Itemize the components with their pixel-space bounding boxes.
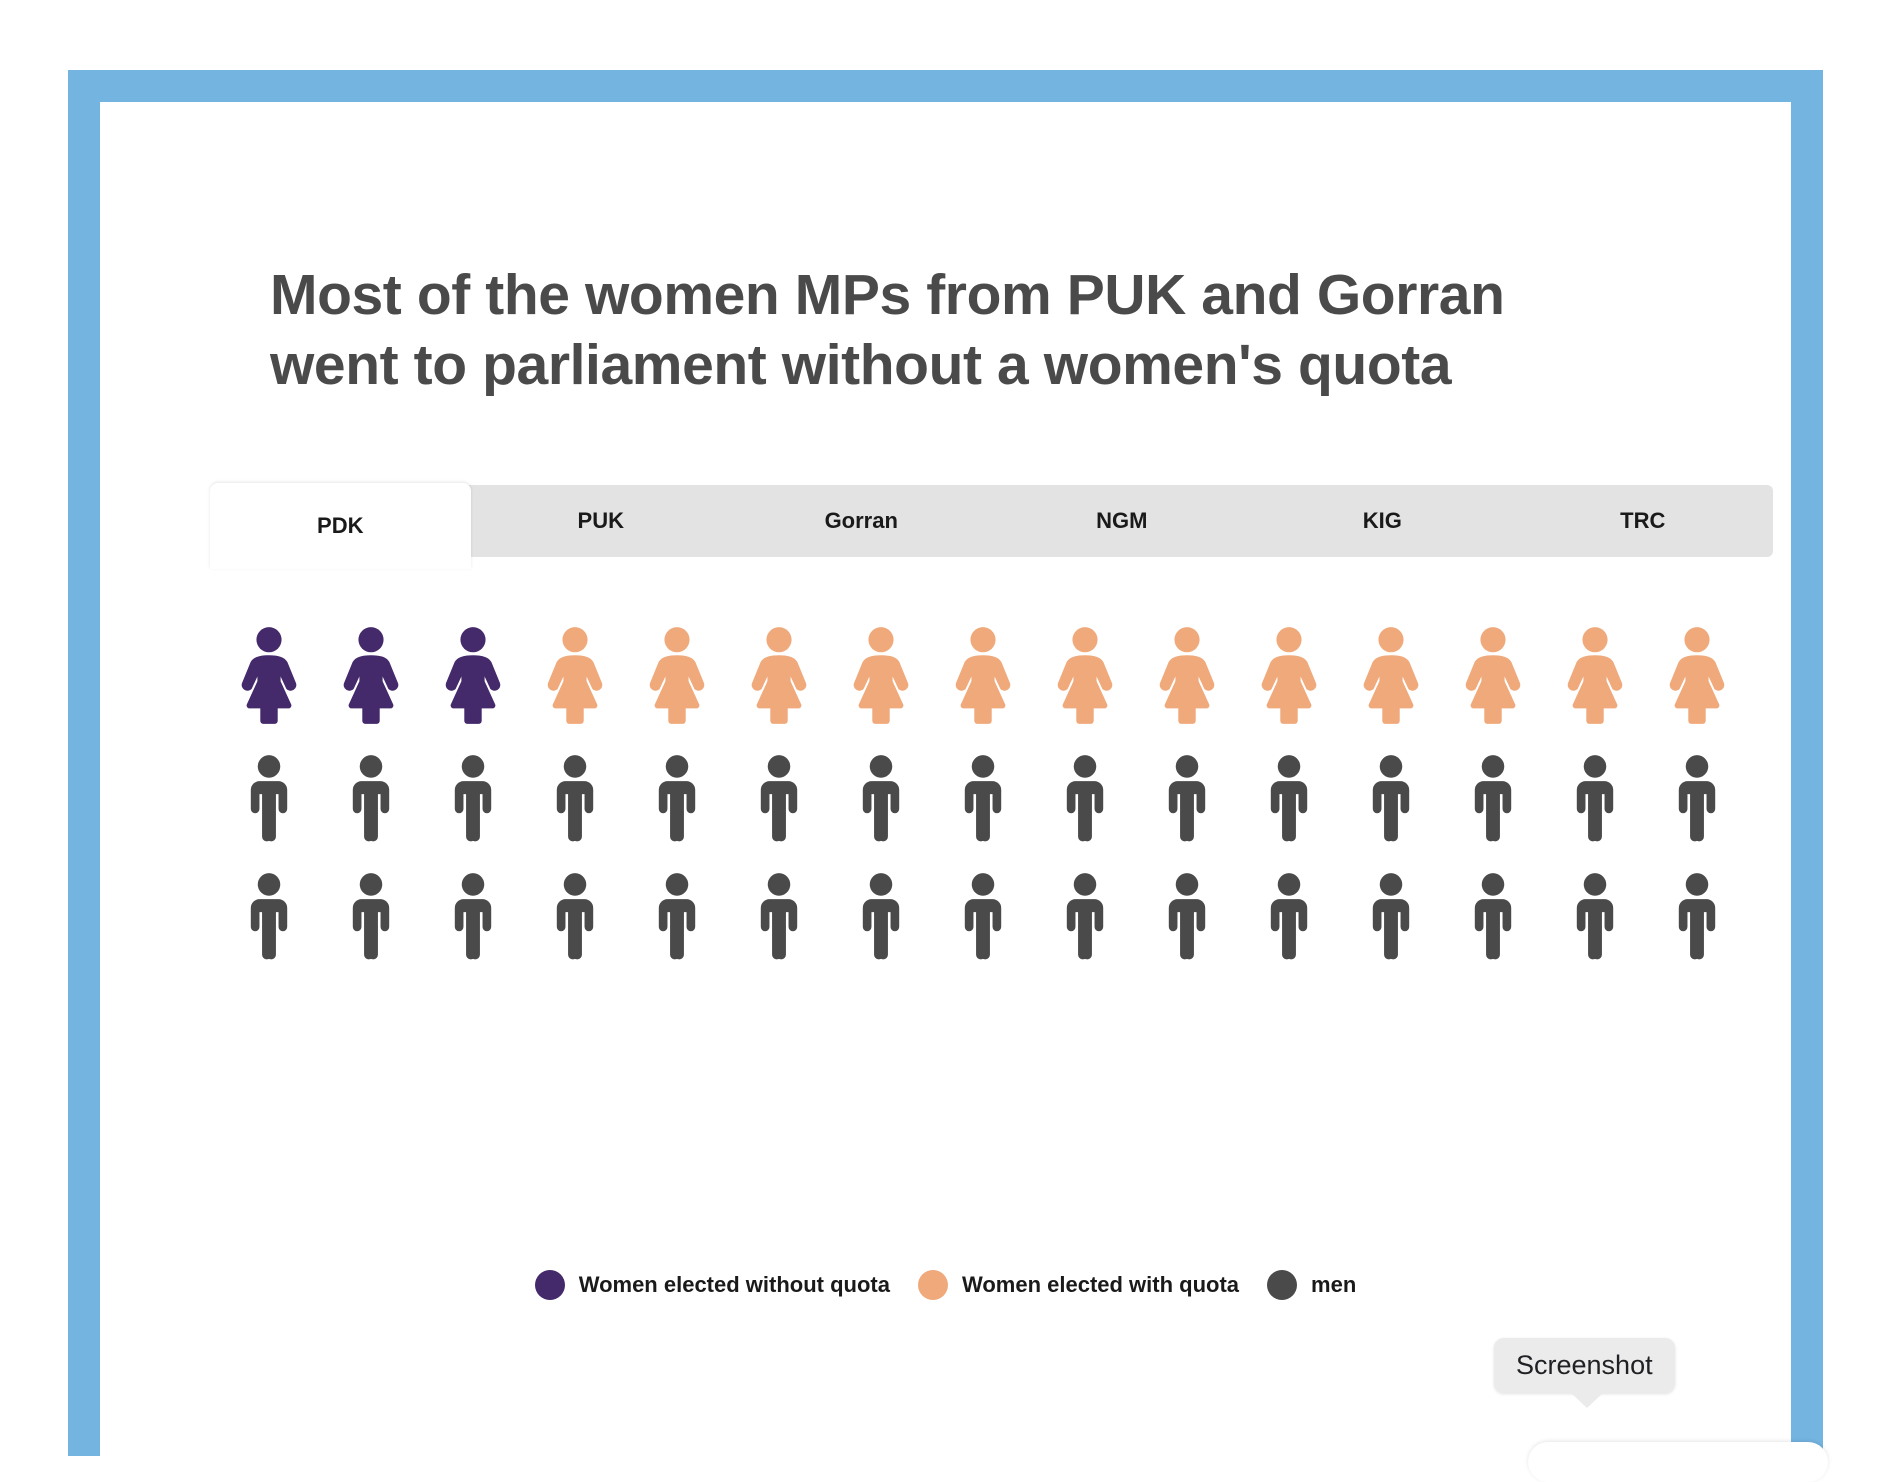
page-title: Most of the women MPs from PUK and Gorra…: [270, 260, 1720, 400]
man-icon: [1340, 873, 1442, 960]
title-line-1: Most of the women MPs from PUK and Gorra…: [270, 260, 1720, 330]
woman-icon: [1136, 627, 1238, 724]
woman-icon: [218, 627, 320, 724]
man-icon: [1442, 755, 1544, 842]
man-icon: [626, 873, 728, 960]
man-icon: [218, 873, 320, 960]
man-icon: [1034, 755, 1136, 842]
legend-item-0[interactable]: Women elected without quota: [535, 1270, 890, 1300]
man-icon: [1238, 755, 1340, 842]
woman-icon: [830, 627, 932, 724]
man-icon: [1340, 755, 1442, 842]
man-icon: [1136, 755, 1238, 842]
tab-puk[interactable]: PUK: [471, 485, 732, 557]
legend-label: Women elected with quota: [962, 1272, 1239, 1298]
tab-ngm[interactable]: NGM: [992, 485, 1253, 557]
man-icon: [218, 755, 320, 842]
legend-swatch-icon: [1267, 1270, 1297, 1300]
woman-icon: [1544, 627, 1646, 724]
pictogram-row-man: [218, 842, 1748, 960]
man-icon: [830, 873, 932, 960]
legend-item-1[interactable]: Women elected with quota: [918, 1270, 1239, 1300]
man-icon: [932, 755, 1034, 842]
legend-item-2[interactable]: men: [1267, 1270, 1356, 1300]
pictogram-row-man: [218, 724, 1748, 842]
man-icon: [1646, 873, 1748, 960]
tab-label: PDK: [317, 513, 363, 539]
woman-icon: [1442, 627, 1544, 724]
man-icon: [626, 755, 728, 842]
man-icon: [1646, 755, 1748, 842]
woman-icon: [524, 627, 626, 724]
legend-label: Women elected without quota: [579, 1272, 890, 1298]
tab-label: PUK: [578, 508, 624, 534]
pictogram-grid: [218, 602, 1748, 960]
man-icon: [524, 873, 626, 960]
tab-pdk[interactable]: PDK: [210, 483, 471, 569]
man-icon: [830, 755, 932, 842]
woman-icon: [320, 627, 422, 724]
woman-icon: [1034, 627, 1136, 724]
legend-swatch-icon: [535, 1270, 565, 1300]
woman-icon: [626, 627, 728, 724]
man-icon: [932, 873, 1034, 960]
man-icon: [320, 755, 422, 842]
woman-icon: [728, 627, 830, 724]
tab-label: TRC: [1620, 508, 1665, 534]
woman-icon: [1646, 627, 1748, 724]
man-icon: [728, 873, 830, 960]
tab-kig[interactable]: KIG: [1252, 485, 1513, 557]
man-icon: [728, 755, 830, 842]
screenshot-tooltip-text: Screenshot: [1494, 1338, 1675, 1393]
pictogram-row-woman: [218, 602, 1748, 724]
woman-icon: [1238, 627, 1340, 724]
man-icon: [1442, 873, 1544, 960]
blue-frame-border: Most of the women MPs from PUK and Gorra…: [68, 70, 1823, 1456]
man-icon: [524, 755, 626, 842]
man-icon: [1136, 873, 1238, 960]
tab-label: KIG: [1363, 508, 1402, 534]
man-icon: [1238, 873, 1340, 960]
legend-label: men: [1311, 1272, 1356, 1298]
legend-swatch-icon: [918, 1270, 948, 1300]
man-icon: [422, 873, 524, 960]
screenshot-tooltip: Screenshot: [1494, 1338, 1675, 1393]
chart-canvas: Most of the women MPs from PUK and Gorra…: [100, 102, 1791, 1456]
chart-legend: Women elected without quotaWomen elected…: [100, 1270, 1791, 1300]
tab-label: NGM: [1096, 508, 1147, 534]
man-icon: [422, 755, 524, 842]
title-line-2: went to parliament without a women's quo…: [270, 330, 1720, 400]
tab-label: Gorran: [825, 508, 898, 534]
tab-trc[interactable]: TRC: [1513, 485, 1774, 557]
man-icon: [1034, 873, 1136, 960]
man-icon: [1544, 755, 1646, 842]
tooltip-arrow-icon: [1570, 1392, 1604, 1408]
woman-icon: [932, 627, 1034, 724]
man-icon: [1544, 873, 1646, 960]
tab-gorran[interactable]: Gorran: [731, 485, 992, 557]
partial-button-below-tooltip[interactable]: [1528, 1442, 1828, 1482]
man-icon: [320, 873, 422, 960]
woman-icon: [422, 627, 524, 724]
woman-icon: [1340, 627, 1442, 724]
category-tab-bar[interactable]: PDK PUK Gorran NGM KIG TRC: [210, 485, 1773, 557]
